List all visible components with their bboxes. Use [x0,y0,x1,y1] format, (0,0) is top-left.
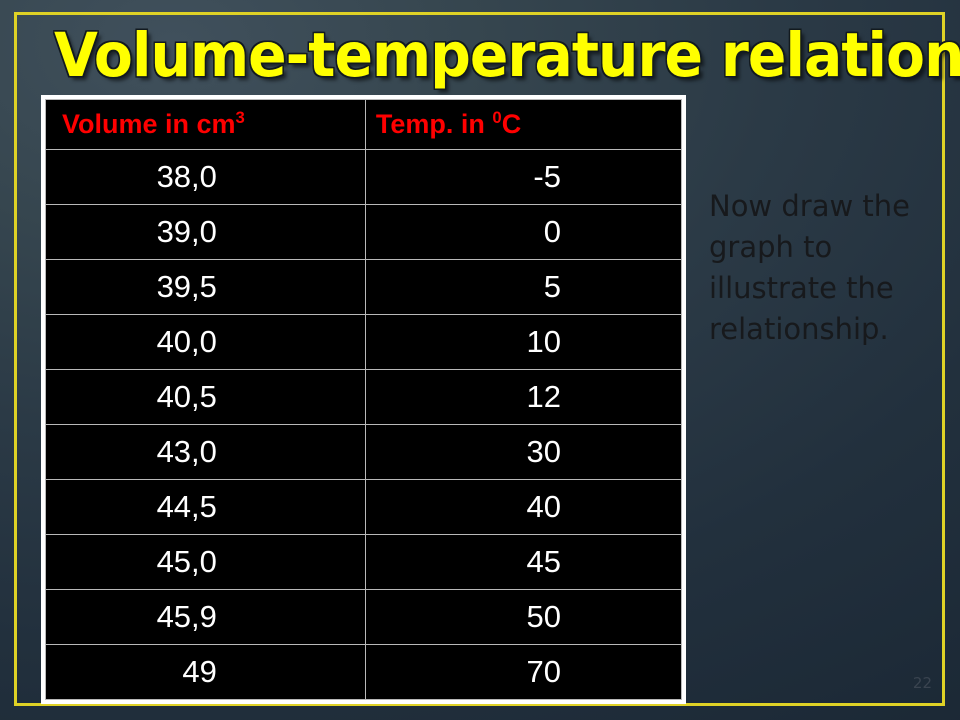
page-number: 22 [913,674,932,692]
table-header: Volume in cm3 Temp. in 0C [46,100,682,150]
column-header-volume: Volume in cm3 [46,100,366,150]
column-header-temperature-superscript: 0 [492,108,501,127]
slide-title: Volume-temperature relationship [54,20,906,92]
table-row: 39,00 [46,205,682,260]
cell-volume: 49 [46,645,366,700]
cell-temperature: -5 [365,150,681,205]
cell-volume: 40,5 [46,370,366,425]
cell-volume: 43,0 [46,425,366,480]
table-row: 38,0-5 [46,150,682,205]
table-row: 45,950 [46,590,682,645]
table-row: 39,55 [46,260,682,315]
cell-temperature: 0 [365,205,681,260]
table-row: 44,540 [46,480,682,535]
column-header-temperature-unit: C [502,109,522,139]
cell-temperature: 40 [365,480,681,535]
cell-volume: 40,0 [46,315,366,370]
instruction-text: Now draw the graph to illustrate the rel… [709,186,924,350]
data-table-container: Volume in cm3 Temp. in 0C 38,0-539,0039,… [41,95,686,704]
table-row: 40,010 [46,315,682,370]
cell-volume: 39,5 [46,260,366,315]
column-header-temperature-label: Temp. in [376,109,493,139]
column-header-volume-superscript: 3 [236,108,245,127]
cell-volume: 44,5 [46,480,366,535]
cell-temperature: 70 [365,645,681,700]
table-body: 38,0-539,0039,5540,01040,51243,03044,540… [46,150,682,700]
table-row: 45,045 [46,535,682,590]
table-row: 43,030 [46,425,682,480]
column-header-temperature: Temp. in 0C [365,100,681,150]
cell-volume: 38,0 [46,150,366,205]
cell-volume: 45,0 [46,535,366,590]
cell-volume: 39,0 [46,205,366,260]
table-row: 40,512 [46,370,682,425]
slide-canvas: Volume-temperature relationship Volume i… [0,0,960,720]
table-header-row: Volume in cm3 Temp. in 0C [46,100,682,150]
column-header-volume-label: Volume in cm [62,109,236,139]
cell-temperature: 10 [365,315,681,370]
cell-temperature: 30 [365,425,681,480]
cell-volume: 45,9 [46,590,366,645]
cell-temperature: 45 [365,535,681,590]
volume-temperature-table: Volume in cm3 Temp. in 0C 38,0-539,0039,… [45,99,682,700]
cell-temperature: 5 [365,260,681,315]
table-row: 4970 [46,645,682,700]
cell-temperature: 12 [365,370,681,425]
cell-temperature: 50 [365,590,681,645]
